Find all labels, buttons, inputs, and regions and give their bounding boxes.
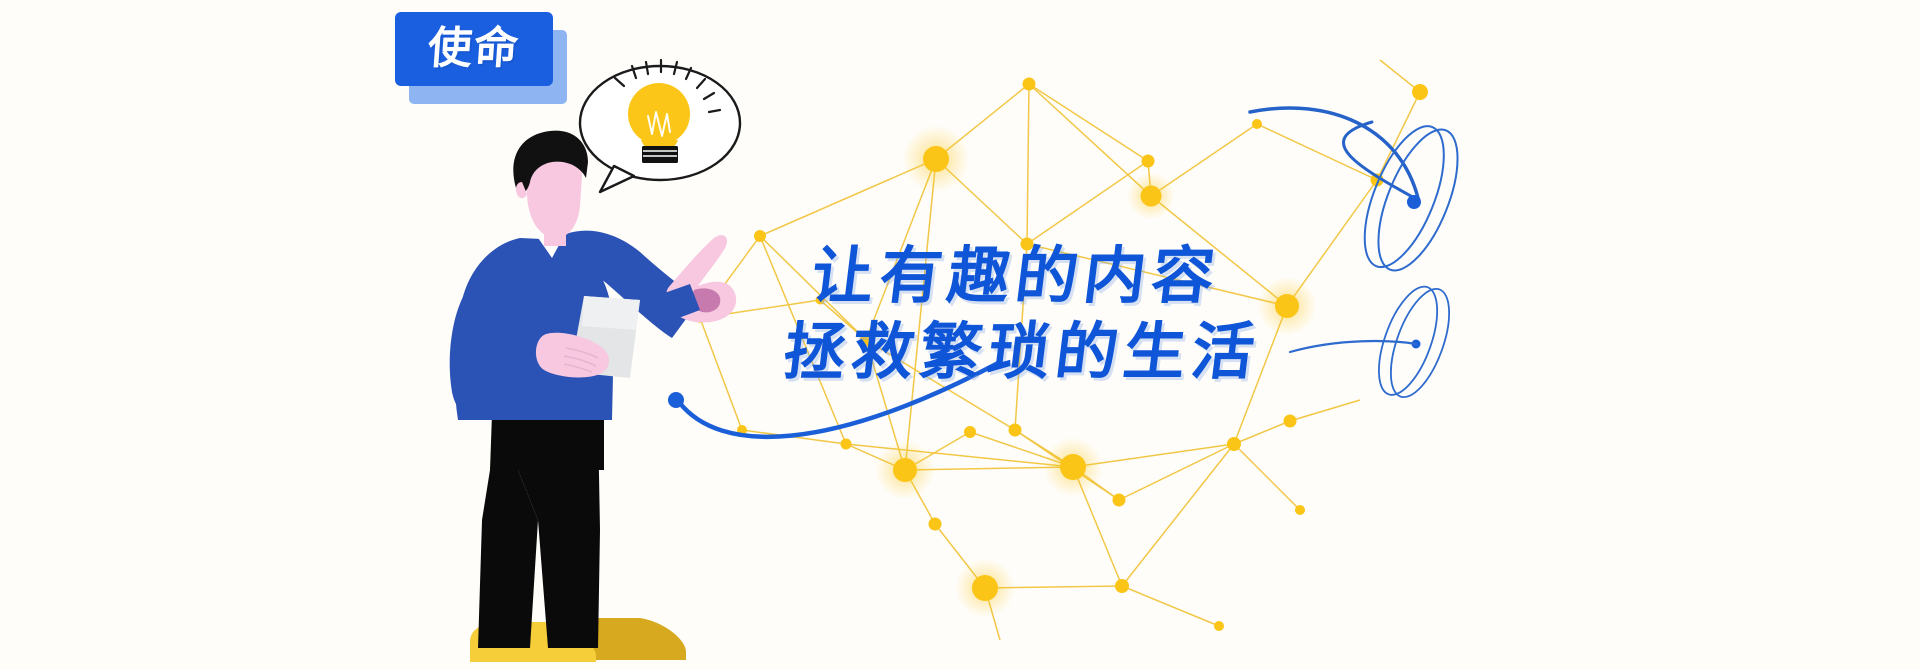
headline-line-1: 让有趣的内容 <box>807 238 1516 314</box>
mission-badge-body[interactable]: 使命 <box>395 12 553 86</box>
mission-badge-label: 使命 <box>426 27 521 71</box>
mission-badge[interactable]: 使命 <box>395 12 567 104</box>
headline: 让有趣的内容 拯救繁琐的生活 <box>812 238 1512 389</box>
mission-banner: 使命 让有趣的内容 拯救繁琐的生活 <box>0 0 1920 670</box>
headline-line-2: 拯救繁琐的生活 <box>779 314 1516 390</box>
